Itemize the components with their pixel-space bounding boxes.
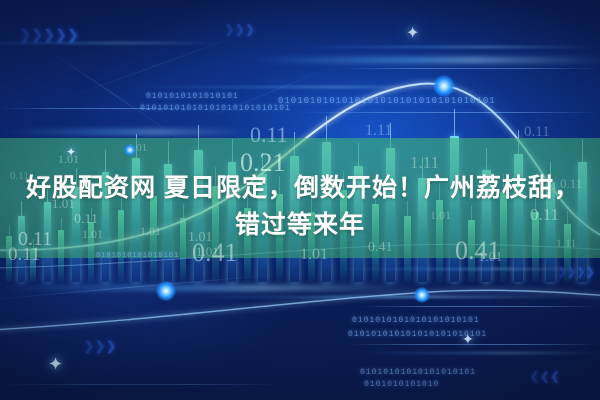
headline-line-2: 错过等来年 [0, 205, 600, 241]
banner-image: 0.110.211.111.110.110.111.011.011.010.11… [0, 0, 600, 400]
headline-line-1: 好股配资网 夏日限定，倒数开始！广州荔枝甜， [0, 168, 600, 204]
